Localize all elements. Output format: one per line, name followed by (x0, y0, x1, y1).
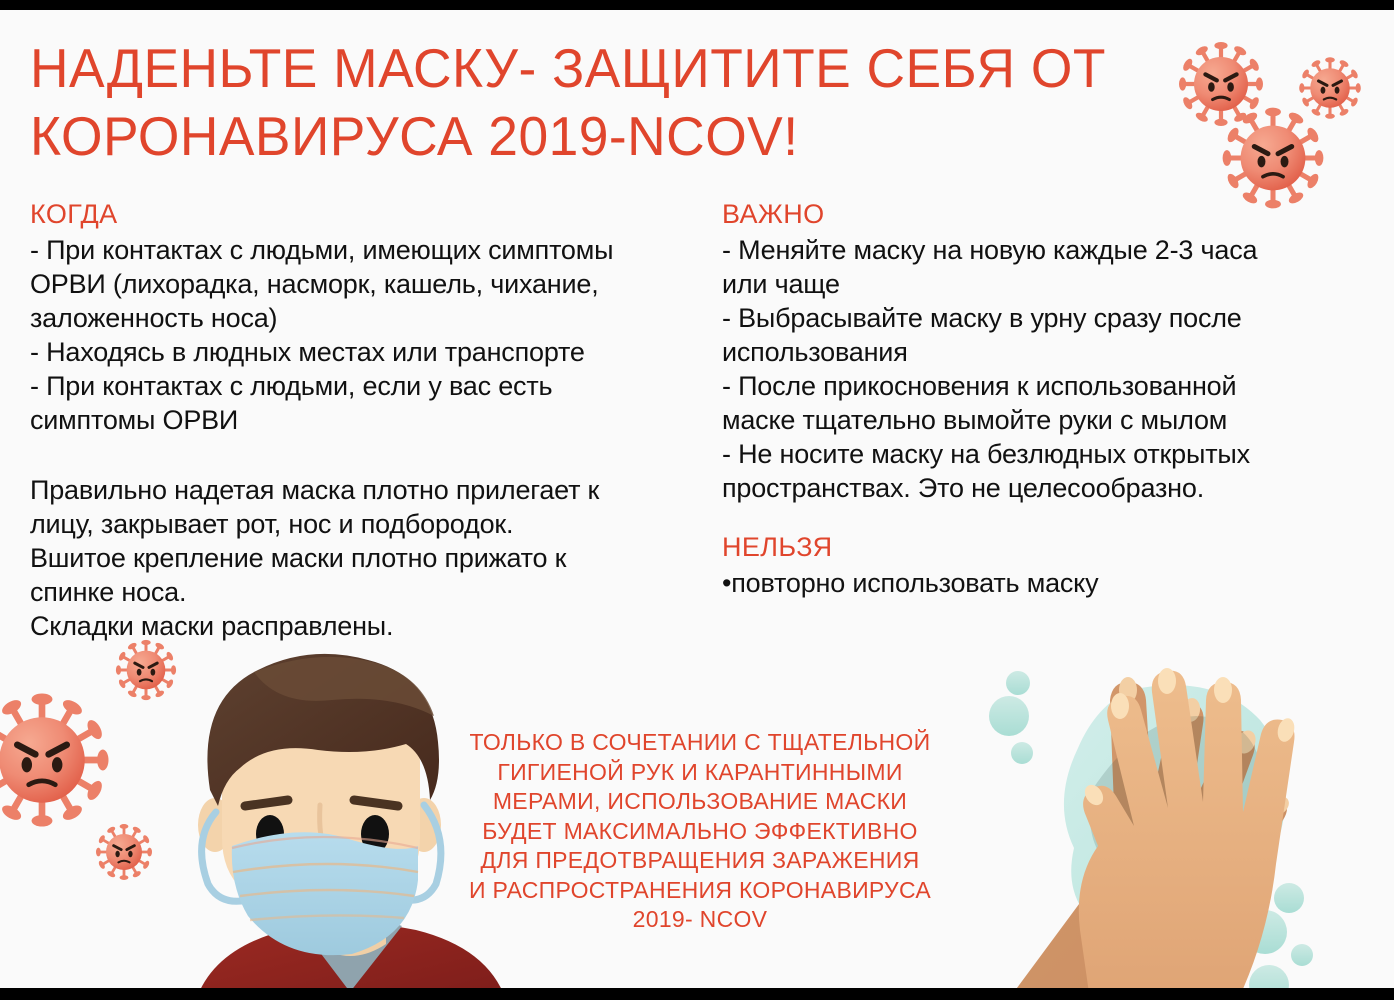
boy-hair-highlight (254, 657, 434, 716)
bottom-message: ТОЛЬКО В СОЧЕТАНИИ С ТЩАТЕЛЬНОЙ ГИГИЕНОЙ… (420, 728, 980, 935)
top-black-bar (0, 0, 1394, 10)
important-line-8: пространствах. Это не целесообразно. (722, 471, 1372, 505)
important-line-5: - После прикосновения к использованной (722, 369, 1372, 403)
note-line-1: Правильно надетая маска плотно прилегает… (30, 473, 690, 507)
right-column: ВАЖНО - Меняйте маску на новую каждые 2-… (722, 198, 1372, 600)
mask-loop-left (202, 812, 248, 901)
boy-eye-right (361, 815, 389, 853)
mask-fit-note: Правильно надетая маска плотно прилегает… (30, 473, 690, 643)
virus-icon-left-small-2 (96, 824, 152, 880)
boy-neck (316, 872, 386, 956)
heading-forbidden: НЕЛЬЗЯ (722, 531, 1372, 564)
title-line-2: КОРОНАВИРУСА 2019-nCoV! (30, 102, 1116, 170)
virus-icon-left-small-1 (116, 640, 176, 700)
when-line-1: - При контактах с людьми, имеющих симпто… (30, 233, 690, 267)
boy-hair (207, 654, 439, 806)
bottom-line-6: И РАСПРОСТРАНЕНИЯ КОРОНАВИРУСА (420, 876, 980, 906)
heading-important: ВАЖНО (722, 198, 1372, 231)
virus-icon-left-big (0, 694, 108, 827)
bottom-line-1: ТОЛЬКО В СОЧЕТАНИИ С ТЩАТЕЛЬНОЙ (420, 728, 980, 758)
bottom-line-5: ДЛЯ ПРЕДОТВРАЩЕНИЯ ЗАРАЖЕНИЯ (420, 846, 980, 876)
bottom-line-4: БУДЕТ МАКСИМАЛЬНО ЭФФЕКТИВНО (420, 817, 980, 847)
note-line-3: Вшитое крепление маски плотно прижато к (30, 541, 690, 575)
mask-pleat-2 (240, 890, 414, 896)
forbidden-list: •повторно использовать маску (722, 566, 1372, 600)
bottom-black-bar (0, 988, 1394, 1000)
bottom-line-3: МЕРАМИ, ИСПОЛЬЗОВАНИЕ МАСКИ (420, 787, 980, 817)
forbidden-line-1: •повторно использовать маску (722, 566, 1372, 600)
important-list: - Меняйте маску на новую каждые 2-3 часа… (722, 233, 1372, 505)
boy-nose (320, 805, 327, 852)
boy-eyebrow-left (245, 800, 288, 806)
when-list: - При контактах с людьми, имеющих симпто… (30, 233, 690, 437)
when-line-6: симптомы ОРВИ (30, 403, 690, 437)
handwashing-illustration (989, 668, 1313, 1000)
left-column-spacer (30, 437, 690, 473)
boy-eye-left (256, 815, 284, 853)
boy-ear-left (198, 798, 232, 852)
hand-front (1079, 668, 1297, 1000)
mask-pleat-3 (250, 915, 404, 920)
title-line-1: НАДЕНЬТЕ МАСКУ- ЗАЩИТИТЕ СЕБЯ ОТ (30, 34, 1116, 102)
left-column: КОГДА - При контактах с людьми, имеющих … (30, 198, 690, 643)
when-line-5: - При контактах с людьми, если у вас ест… (30, 369, 690, 403)
when-line-2: ОРВИ (лихорадка, насморк, кашель, чихани… (30, 267, 690, 301)
boy-face (222, 682, 420, 916)
soap-bubbles (989, 671, 1313, 1000)
when-line-3: заложенность носа) (30, 301, 690, 335)
note-line-5: Складки маски расправлены. (30, 609, 690, 643)
poster-title: НАДЕНЬТЕ МАСКУ- ЗАЩИТИТЕ СЕБЯ ОТ КОРОНАВ… (30, 34, 1116, 170)
when-line-4: - Находясь в людных местах или транспорт… (30, 335, 690, 369)
poster-root: НАДЕНЬТЕ МАСКУ- ЗАЩИТИТЕ СЕБЯ ОТ КОРОНАВ… (0, 0, 1394, 1000)
bottom-line-2: ГИГИЕНОЙ РУК И КАРАНТИННЫМИ (420, 758, 980, 788)
hand-back (1008, 677, 1293, 1000)
important-line-2: или чаще (722, 267, 1372, 301)
note-line-4: спинке носа. (30, 575, 690, 609)
virus-icon-top-3 (1223, 108, 1324, 209)
mask-nose-wire (232, 837, 418, 848)
boy-collar (300, 918, 402, 992)
virus-icon-top-1 (1179, 42, 1263, 126)
face-mask (232, 832, 418, 955)
important-line-1: - Меняйте маску на новую каждые 2-3 часа (722, 233, 1372, 267)
bottom-line-7: 2019- nCoV (420, 905, 980, 935)
heading-when: КОГДА (30, 198, 690, 231)
mask-pleat-1 (233, 864, 418, 872)
right-column-spacer (722, 505, 1372, 531)
important-line-7: - Не носите маску на безлюдных открытых (722, 437, 1372, 471)
boy-eyebrow-right (354, 800, 398, 806)
important-line-3: - Выбрасывайте маску в урну сразу после (722, 301, 1372, 335)
virus-icon-top-2 (1299, 57, 1361, 119)
important-line-6: маске тщательно вымойте руки с мылом (722, 403, 1372, 437)
note-line-2: лицу, закрывает рот, нос и подбородок. (30, 507, 690, 541)
important-line-4: использования (722, 335, 1372, 369)
